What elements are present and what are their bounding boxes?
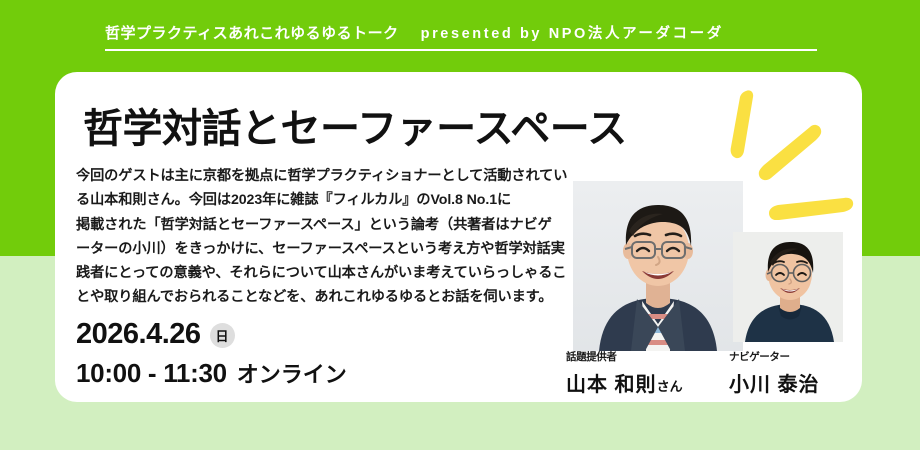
description-line: ーターの小川）をきっかけに、セーファースペースという考え方や哲学対話実 (76, 237, 563, 261)
speaker-role: 話題提供者 (566, 349, 683, 364)
description-line: 今回のゲストは主に京都を拠点に哲学プラクティショナーとして活動されてい (76, 164, 563, 188)
speaker-name-text: 山本 和則 (566, 374, 657, 396)
description-line: 践者にとっての意義や、それらについて山本さんがいま考えていらっしゃるこ (76, 261, 563, 285)
header-text-row: 哲学プラクティスあれこれゆるゆるトーク presented by NPO法人アー… (105, 22, 817, 51)
event-venue: オンライン (237, 357, 347, 389)
header-program-title: 哲学プラクティスあれこれゆるゆるトーク (105, 22, 399, 43)
portrait-photo-yamamoto (573, 181, 743, 351)
event-date-row: 2026.4.26 日 (76, 317, 347, 351)
speaker-role: ナビゲーター (729, 349, 820, 364)
event-date: 2026.4.26 (76, 318, 201, 351)
header-presented-by: presented by NPO法人アーダコーダ (421, 22, 724, 43)
speaker-name-text: 小川 泰治 (729, 374, 820, 396)
speaker-caption-yamamoto: 話題提供者 山本 和則さん (566, 349, 683, 397)
header-banner: 哲学プラクティスあれこれゆるゆるトーク presented by NPO法人アー… (0, 0, 920, 72)
event-time-row: 10:00 - 11:30 オンライン (76, 357, 347, 389)
description-line: 掲載された「哲学対話とセーファースペース」という論考（共著者はナビゲ (76, 213, 563, 237)
page-title: 哲学対話とセーファースペース (83, 96, 627, 154)
event-datetime: 2026.4.26 日 10:00 - 11:30 オンライン (76, 317, 347, 389)
speaker-caption-ogawa: ナビゲーター 小川 泰治 (729, 349, 820, 397)
portrait-photo-ogawa (733, 232, 843, 342)
day-of-week-badge: 日 (210, 323, 235, 348)
speaker-name: 小川 泰治 (729, 368, 820, 397)
event-time: 10:00 - 11:30 (76, 358, 227, 389)
speaker-name: 山本 和則さん (566, 368, 683, 397)
event-card: 哲学対話とセーファースペース 今回のゲストは主に京都を拠点に哲学プラクティショナ… (55, 72, 862, 402)
description-line: とや取り組んでおられることなどを、あれこれゆるゆるとお話を伺います。 (76, 285, 563, 309)
description-line: る山本和則さん。今回は2023年に雑誌『フィルカル』のVol.8 No.1に (76, 188, 563, 212)
event-description: 今回のゲストは主に京都を拠点に哲学プラクティショナーとして活動されてい る山本和… (76, 164, 563, 310)
speaker-name-suffix: さん (657, 379, 683, 394)
